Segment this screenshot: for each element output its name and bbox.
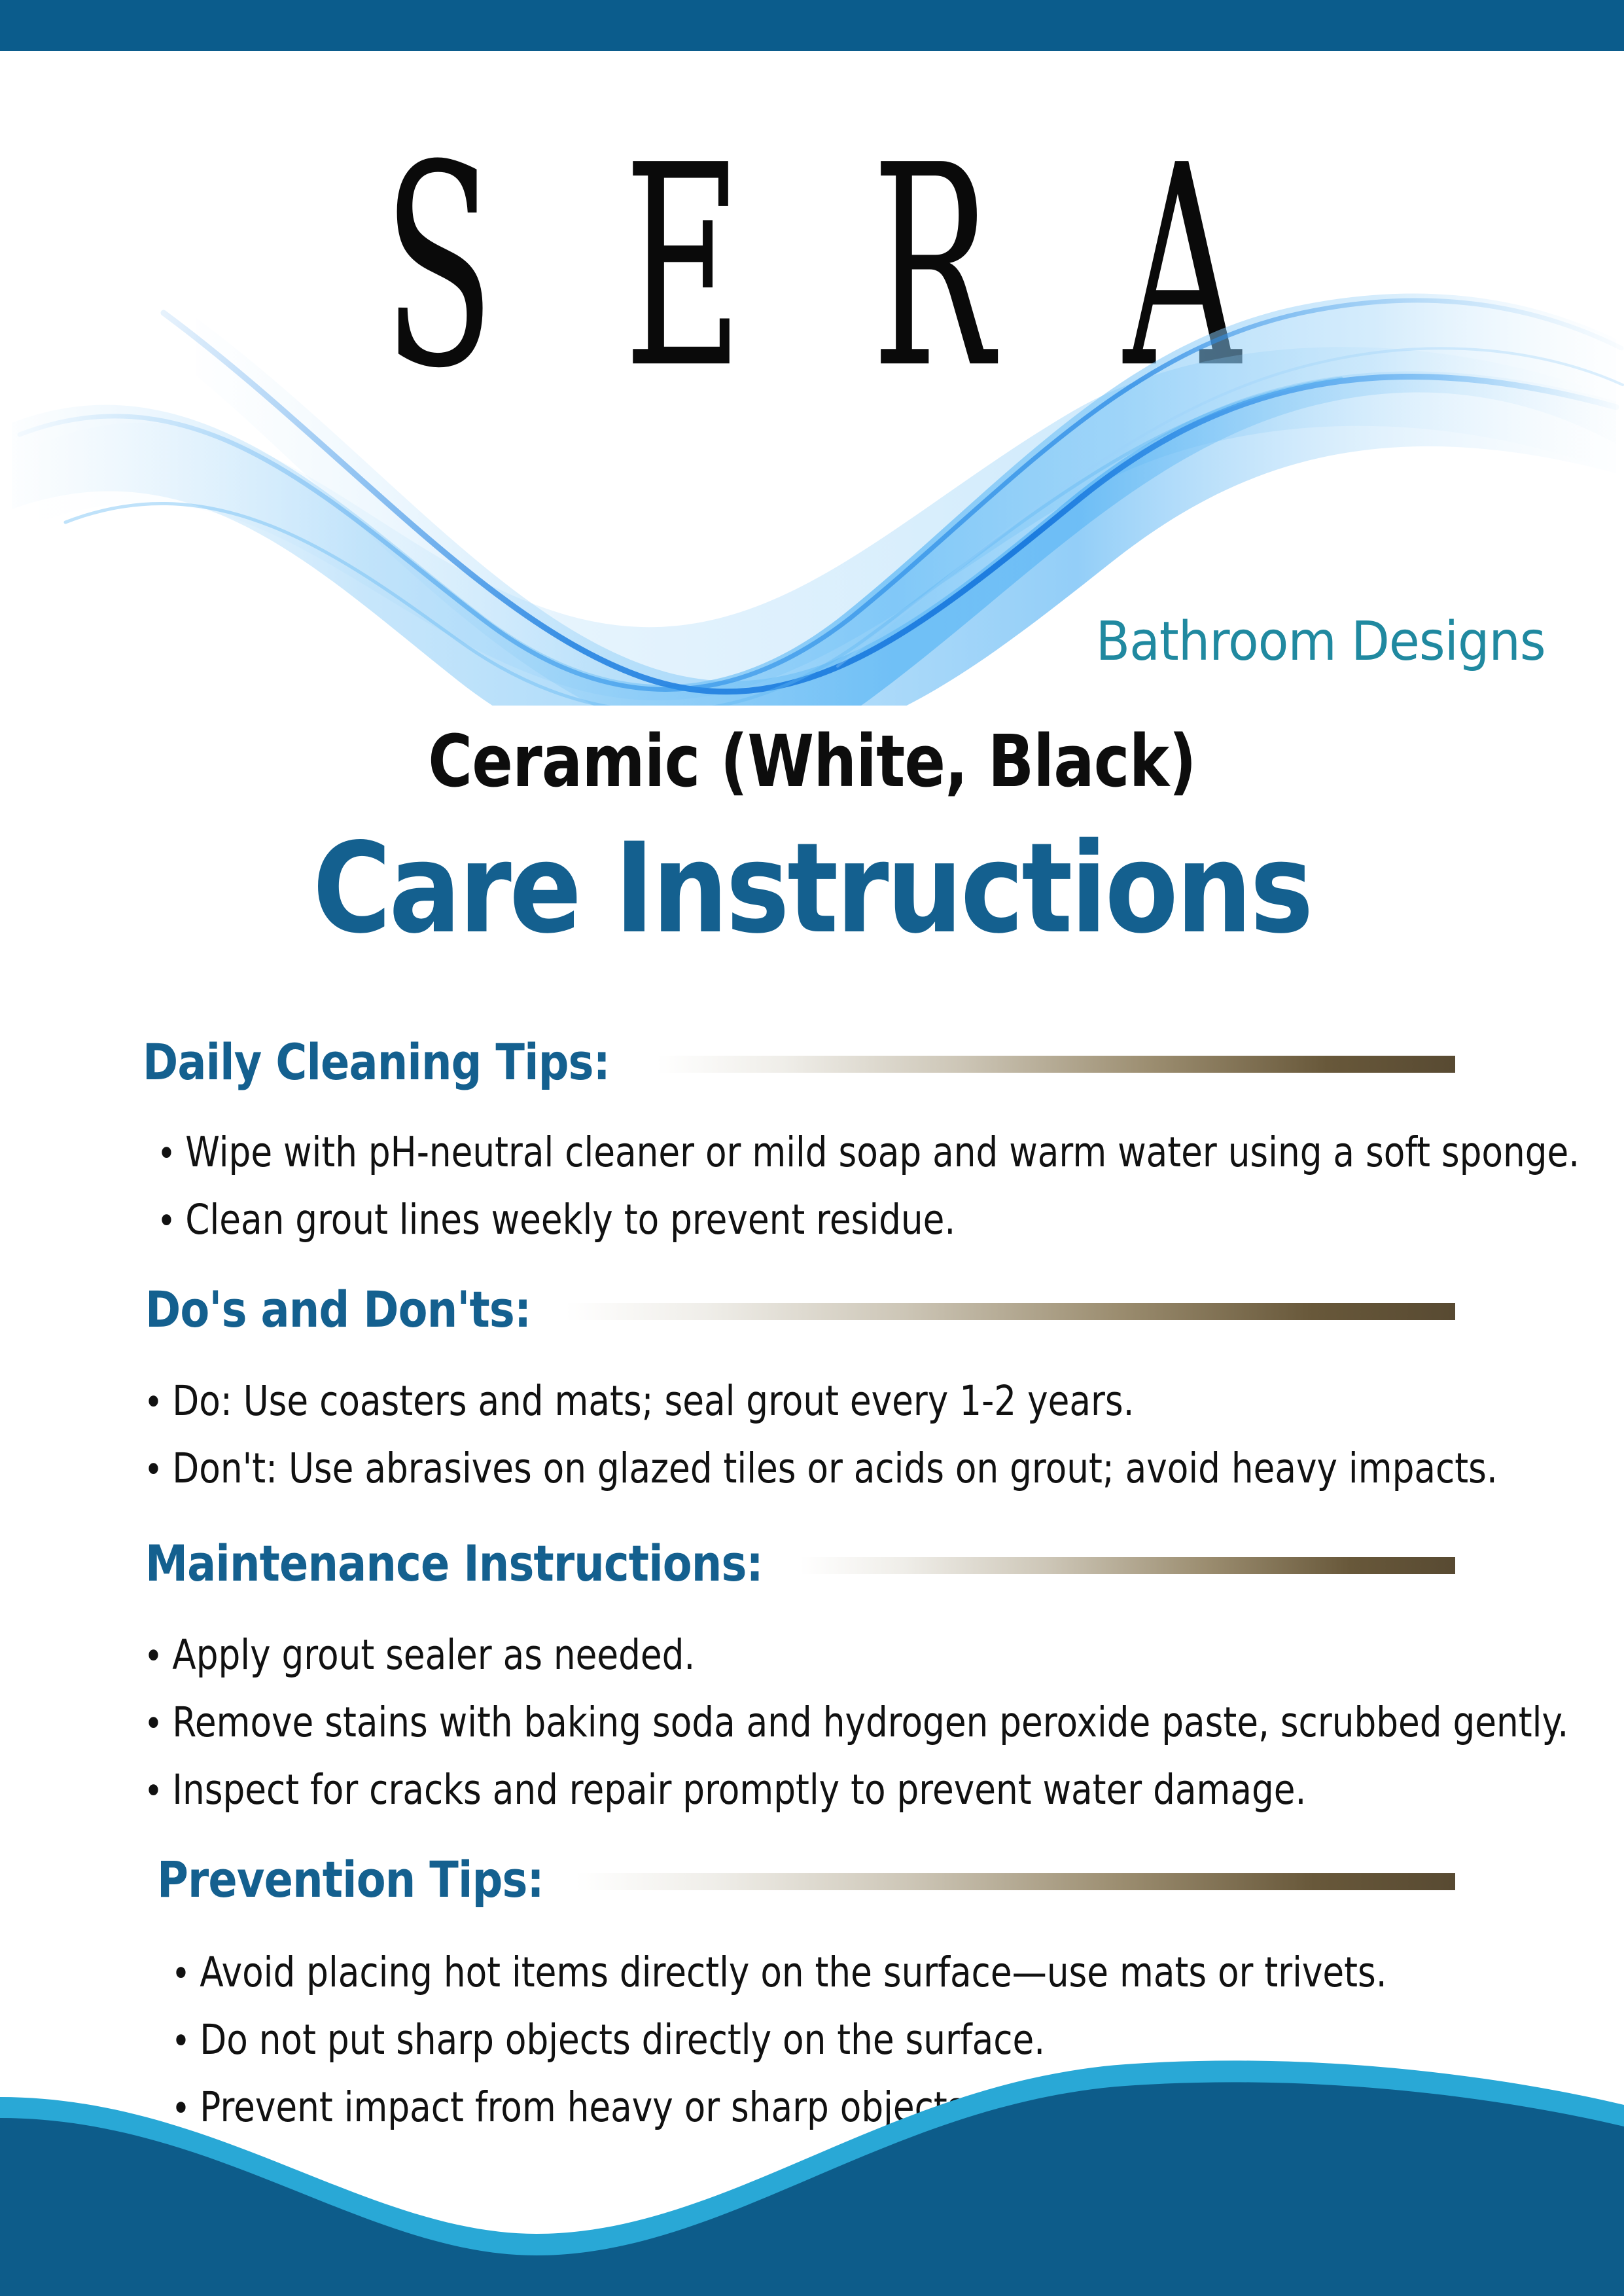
bullet-list-daily-cleaning-tips: Wipe with pH-neutral cleaner or mild soa… [157,1132,1624,1240]
header-logo-block: S E R A [0,51,1624,712]
section-heading-prevention-tips: Prevention Tips: [157,1848,544,1911]
bullet-list-maintenance-instructions: Apply grout sealer as needed. Remove sta… [144,1634,1624,1810]
list-item: Wipe with pH-neutral cleaner or mild soa… [157,1132,1396,1173]
section-heading-maintenance-instructions: Maintenance Instructions: [145,1532,763,1595]
top-accent-bar [0,0,1624,51]
section-dos-and-donts: Do's and Don'ts: Do: Use coasters and ma… [145,1278,1624,1489]
list-item: Inspect for cracks and repair promptly t… [144,1769,1394,1810]
list-item: Apply grout sealer as needed. [144,1634,1394,1676]
section-header: Daily Cleaning Tips: [143,1031,1624,1094]
bullet-list-dos-and-donts: Do: Use coasters and mats; seal grout ev… [144,1380,1624,1489]
section-maintenance-instructions: Maintenance Instructions: Apply grout se… [145,1532,1624,1810]
list-item: Remove stains with baking soda and hydro… [144,1702,1394,1743]
section-divider-rule [657,1056,1455,1073]
section-header: Prevention Tips: [157,1848,1624,1911]
footer-wave-graphic [0,2034,1624,2296]
sera-wordmark: S E R A [309,130,1316,407]
section-heading-dos-and-donts: Do's and Don'ts: [145,1278,531,1341]
list-item: Avoid placing hot items directly on the … [171,1952,1399,1993]
brand-tagline: Bathroom Designs [1096,611,1545,673]
section-divider-rule [800,1557,1455,1574]
page-title: Care Instructions [114,827,1511,951]
section-daily-cleaning-tips: Daily Cleaning Tips: Wipe with pH-neutra… [143,1031,1624,1240]
list-item: Clean grout lines weekly to prevent resi… [157,1199,1396,1240]
product-subtitle: Ceramic (White, Black) [130,725,1494,797]
footer-wave-dark [0,2082,1624,2296]
section-header: Maintenance Instructions: [145,1532,1624,1595]
care-instruction-sections: Daily Cleaning Tips: Wipe with pH-neutra… [0,1031,1624,2154]
section-divider-rule [576,1873,1455,1890]
list-item: Do: Use coasters and mats; seal grout ev… [144,1380,1394,1422]
section-divider-rule [565,1303,1455,1320]
section-header: Do's and Don'ts: [145,1278,1624,1341]
list-item: Don't: Use abrasives on glazed tiles or … [144,1448,1394,1489]
section-heading-daily-cleaning-tips: Daily Cleaning Tips: [143,1031,610,1094]
